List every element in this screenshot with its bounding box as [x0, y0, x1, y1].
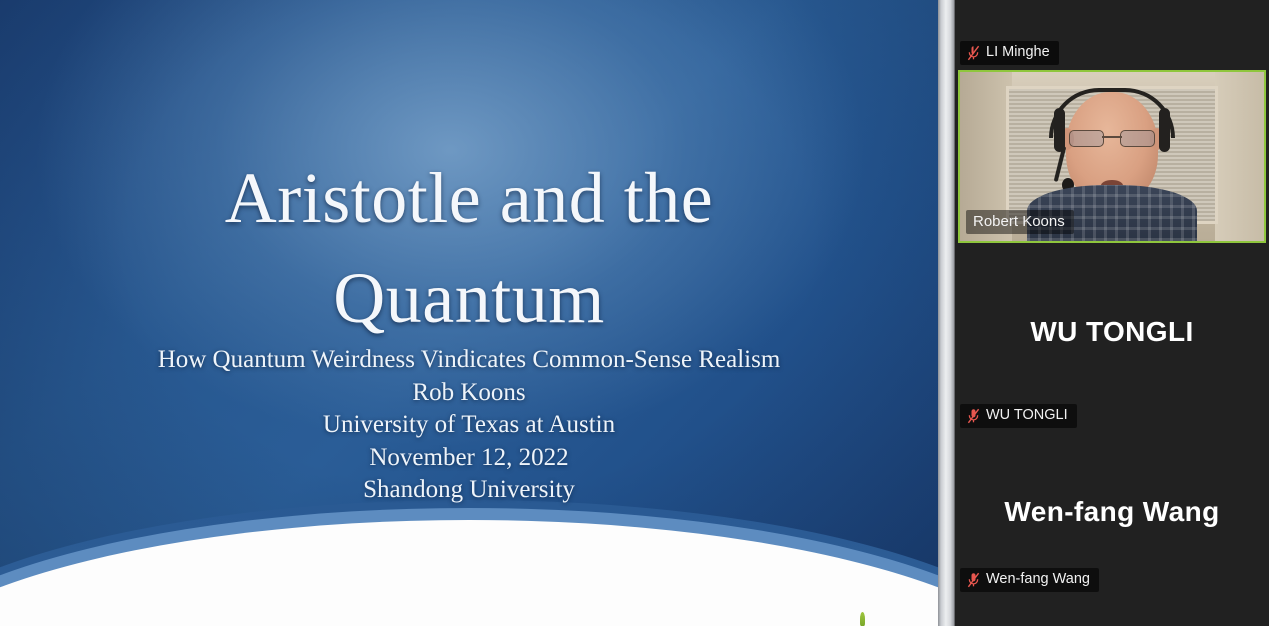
video-tile[interactable]: LI Minghe	[955, 0, 1269, 250]
participant-display-name: Wen-fang Wang	[955, 496, 1269, 528]
participant-name-label: Wen-fang Wang	[986, 571, 1090, 588]
slide-title-line-2: Quantum	[0, 248, 938, 348]
participant-name-chip: LI Minghe	[960, 41, 1059, 65]
active-speaker-video[interactable]: Robert Koons	[958, 70, 1266, 243]
participant-filmstrip[interactable]: LI Minghe	[955, 0, 1269, 626]
participant-tile[interactable]: WU TONGLI WU TONGLI	[955, 250, 1269, 436]
slide-subtitle-line-1: How Quantum Weirdness Vindicates Common-…	[0, 344, 938, 377]
muted-microphone-icon	[967, 572, 980, 588]
muted-microphone-icon	[967, 408, 980, 424]
headset-earcup-right	[1159, 108, 1170, 152]
muted-microphone-icon	[967, 45, 980, 61]
video-name-label: Robert Koons	[973, 212, 1065, 231]
slide-subtitle-line-3: University of Texas at Austin	[0, 409, 938, 442]
video-wall-right	[1215, 72, 1264, 241]
slide-subtitle: How Quantum Weirdness Vindicates Common-…	[0, 344, 938, 507]
meeting-window: Aristotle and the Quantum How Quantum We…	[0, 0, 1269, 626]
participant-tile[interactable]: Wen-fang Wang Wen-fang Wang	[955, 436, 1269, 626]
participant-name-label: WU TONGLI	[986, 407, 1068, 424]
participant-name-label: LI Minghe	[986, 44, 1050, 61]
video-name-chip: Robert Koons	[966, 210, 1074, 234]
participant-display-name: WU TONGLI	[955, 316, 1269, 348]
participant-name-chip: Wen-fang Wang	[960, 568, 1099, 592]
participant-name-chip: WU TONGLI	[960, 404, 1077, 428]
shared-screen-stage[interactable]: Aristotle and the Quantum How Quantum We…	[0, 0, 938, 626]
slide-subtitle-line-5: Shandong University	[0, 474, 938, 507]
slide-text-block: Aristotle and the Quantum How Quantum We…	[0, 0, 938, 626]
slide-subtitle-line-4: November 12, 2022	[0, 442, 938, 475]
panel-splitter-handle[interactable]	[938, 0, 955, 626]
slide-subtitle-line-2: Rob Koons	[0, 377, 938, 410]
slide-title-line-1: Aristotle and the	[225, 158, 713, 238]
slide-title: Aristotle and the Quantum	[0, 148, 938, 348]
